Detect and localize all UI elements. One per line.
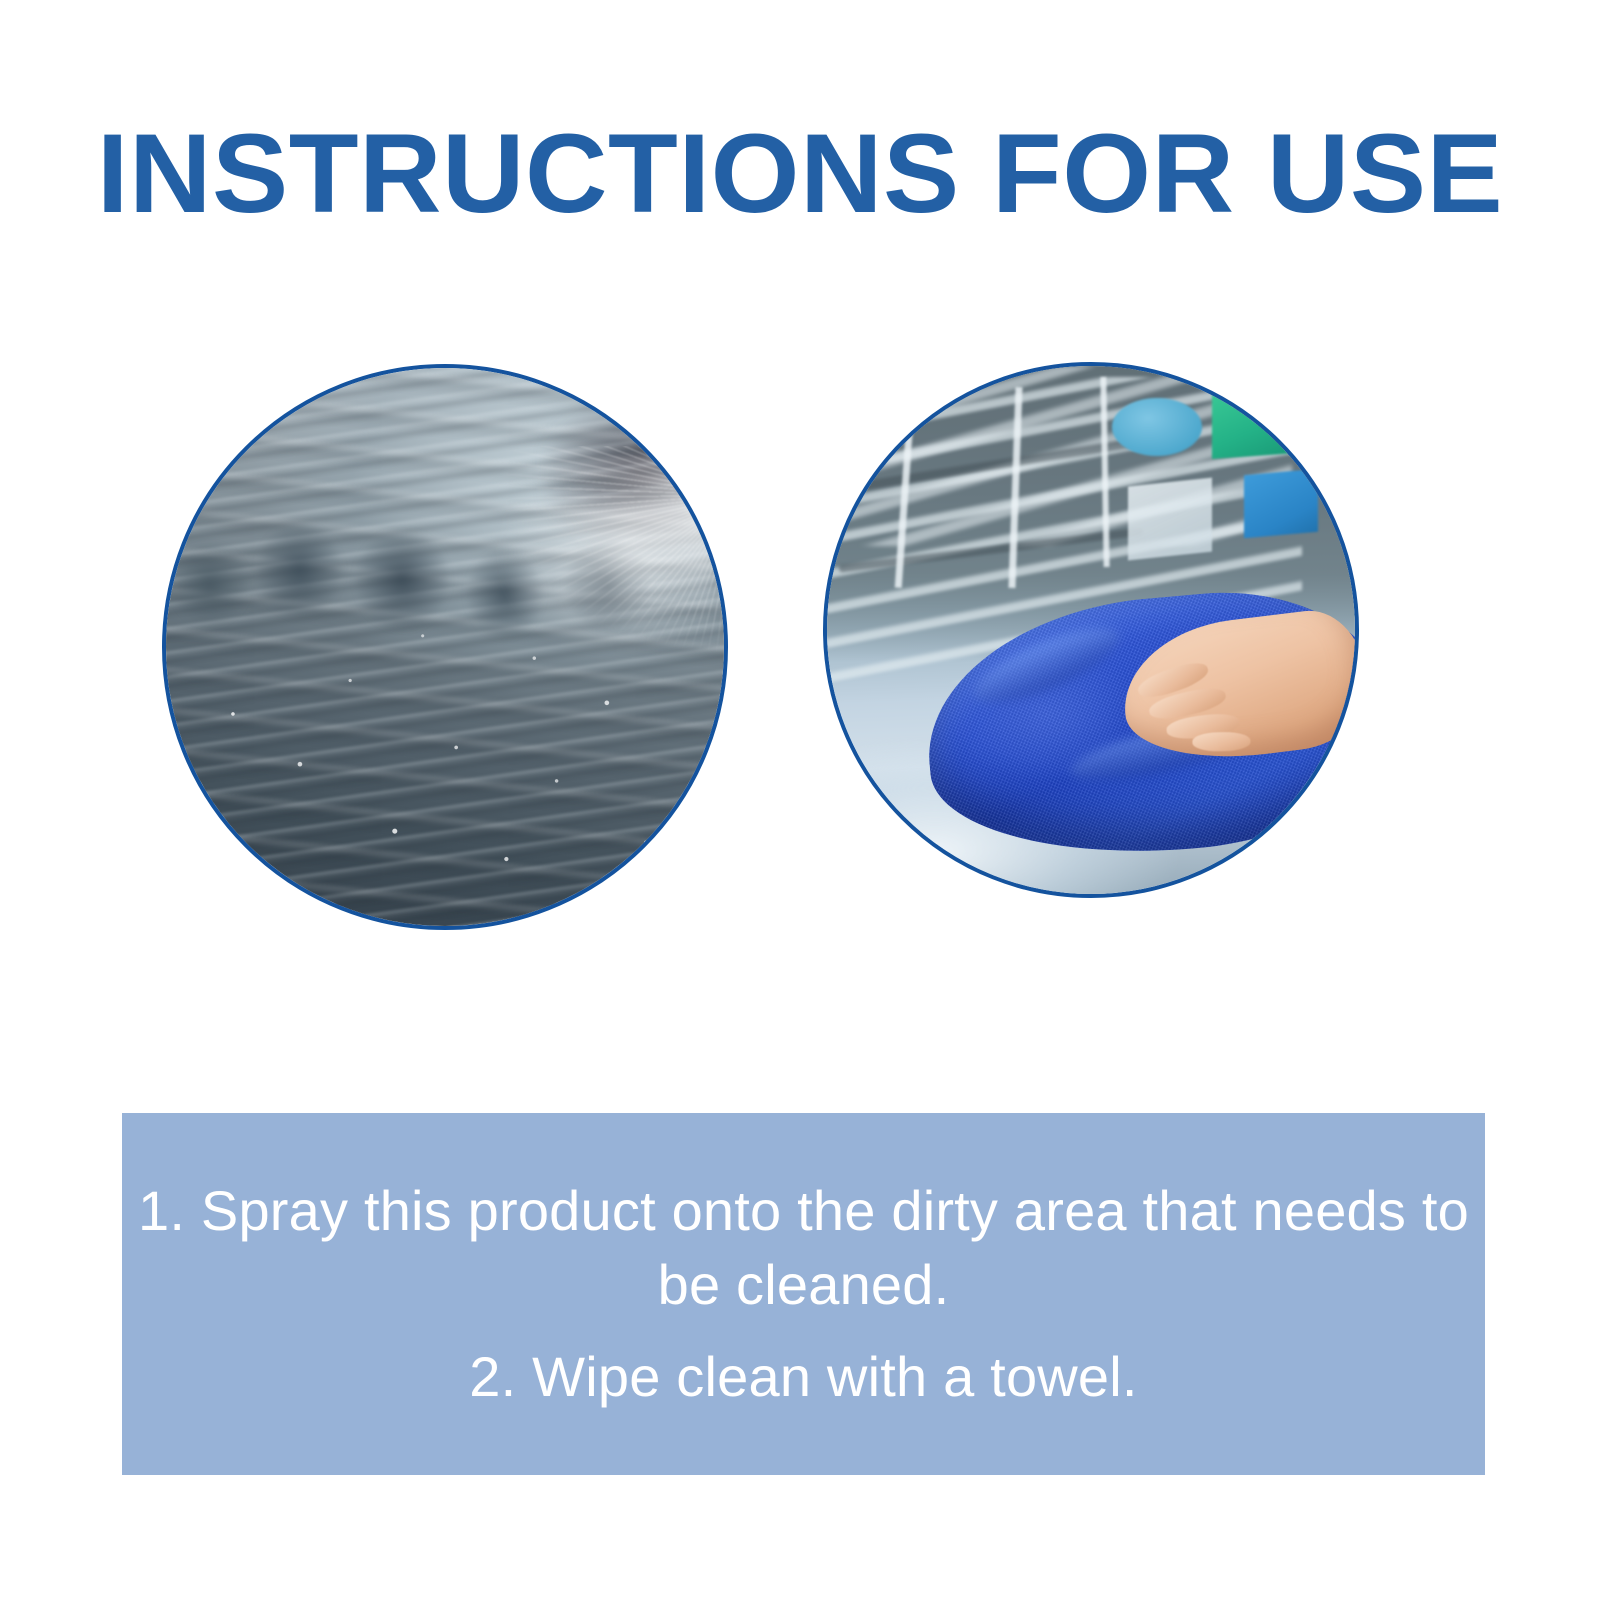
page-title: INSTRUCTIONS FOR USE: [64, 118, 1537, 230]
photo-circle-spray-step: [162, 364, 728, 930]
green-sticker-icon: [1212, 379, 1296, 459]
finger-4: [1192, 732, 1251, 752]
spray-rays: [389, 446, 724, 669]
instruction-line-3: 2. Wipe clean with a towel.: [469, 1340, 1137, 1414]
instruction-line-1: 1. Spray this product onto the dirty are…: [138, 1174, 1469, 1248]
instruction-line-2: be cleaned.: [658, 1248, 950, 1322]
photo-circle-wipe-step: [823, 362, 1359, 898]
blue-sticker-icon: [1244, 468, 1318, 538]
oval-sticker-icon: [1112, 398, 1202, 456]
wipe-photo-inner: [827, 366, 1355, 894]
instructions-panel: 1. Spray this product onto the dirty are…: [122, 1113, 1485, 1475]
white-sticker-icon: [1128, 478, 1212, 561]
spray-photo-inner: [166, 368, 724, 926]
